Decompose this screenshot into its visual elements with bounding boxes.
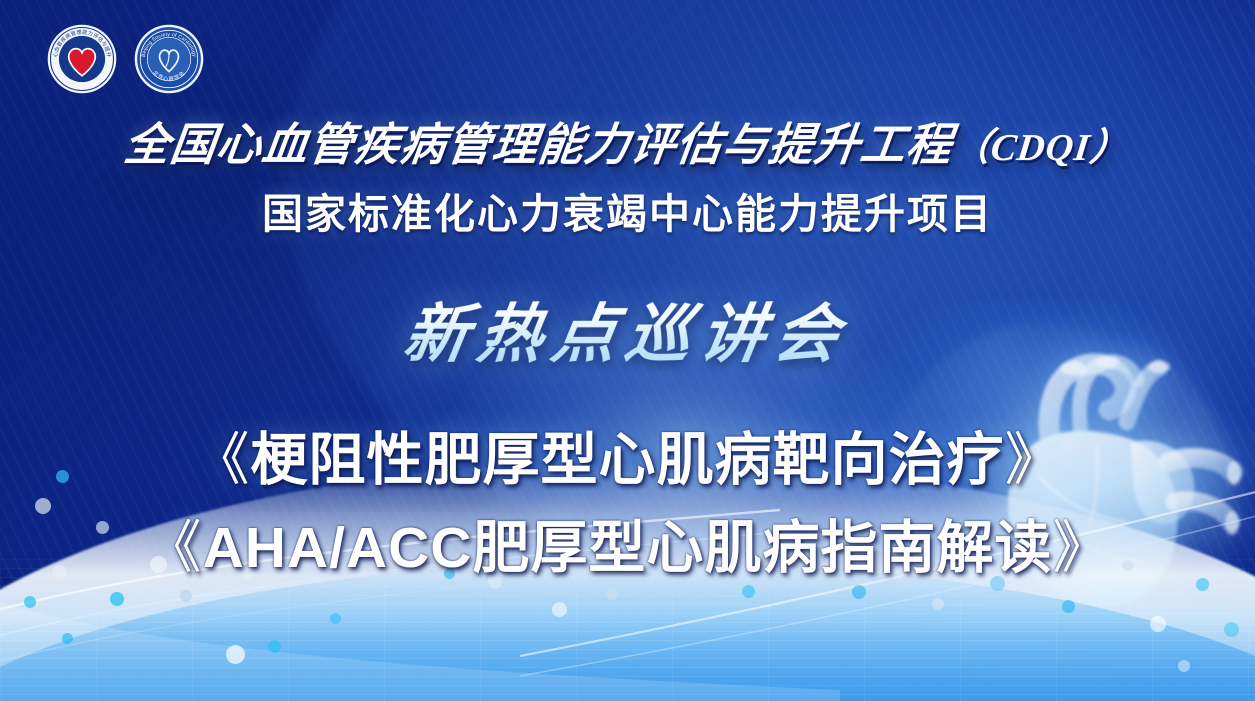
series-name: 新热点巡讲会 xyxy=(0,283,1255,375)
bokeh-dot xyxy=(742,585,755,598)
bracket-close-icon: 》 xyxy=(1005,428,1063,492)
bokeh-dot xyxy=(1224,622,1239,637)
cdqi-logo[interactable]: 全国心血管疾病管理能力评估与提升工程 CDQI xyxy=(47,24,117,94)
bracket-open-icon: 《 xyxy=(193,428,251,492)
poster-canvas: 全国心血管疾病管理能力评估与提升工程 CDQI B xyxy=(0,0,1255,701)
bokeh-dot xyxy=(852,585,866,599)
lecture-title-2-text: AHA/ACC肥厚型心肌病指南解读 xyxy=(203,516,1053,580)
bokeh-dot xyxy=(62,633,73,644)
program-line-cdqi-main: 全国心血管疾病管理能力评估与提升工程 xyxy=(121,120,955,170)
bokeh-dot xyxy=(268,640,281,653)
lecture-title-2: 《AHA/ACC肥厚型心肌病指南解读》 xyxy=(0,502,1255,584)
beijing-society-of-cardiology-logo[interactable]: Beijing Society of Cardiology 北京心脏学会 xyxy=(134,24,204,94)
bokeh-dot xyxy=(180,590,192,602)
bokeh-dot xyxy=(226,645,245,664)
project-name: 国家标准化心力衰竭中心能力提升项目 xyxy=(0,180,1255,240)
bracket-close-icon: 》 xyxy=(1052,516,1110,580)
program-line-cdqi: 全国心血管疾病管理能力评估与提升工程（CDQI） xyxy=(0,108,1255,173)
bokeh-dot xyxy=(110,592,124,606)
program-line-cdqi-paren: （CDQI） xyxy=(949,127,1131,169)
bokeh-dot xyxy=(606,588,618,600)
bokeh-dot xyxy=(1062,600,1075,613)
bokeh-dot xyxy=(1178,660,1190,672)
bracket-open-icon: 《 xyxy=(145,516,203,580)
lecture-title-1-text: 梗阻性肥厚型心肌病靶向治疗 xyxy=(251,428,1005,492)
bokeh-dot xyxy=(24,596,36,608)
bokeh-dot xyxy=(932,598,944,610)
bokeh-dot xyxy=(330,613,341,624)
bokeh-dot xyxy=(552,602,567,617)
logo-group: 全国心血管疾病管理能力评估与提升工程 CDQI B xyxy=(47,24,204,94)
bokeh-dot xyxy=(1150,616,1166,632)
lecture-title-1: 《梗阻性肥厚型心肌病靶向治疗》 xyxy=(0,414,1255,496)
